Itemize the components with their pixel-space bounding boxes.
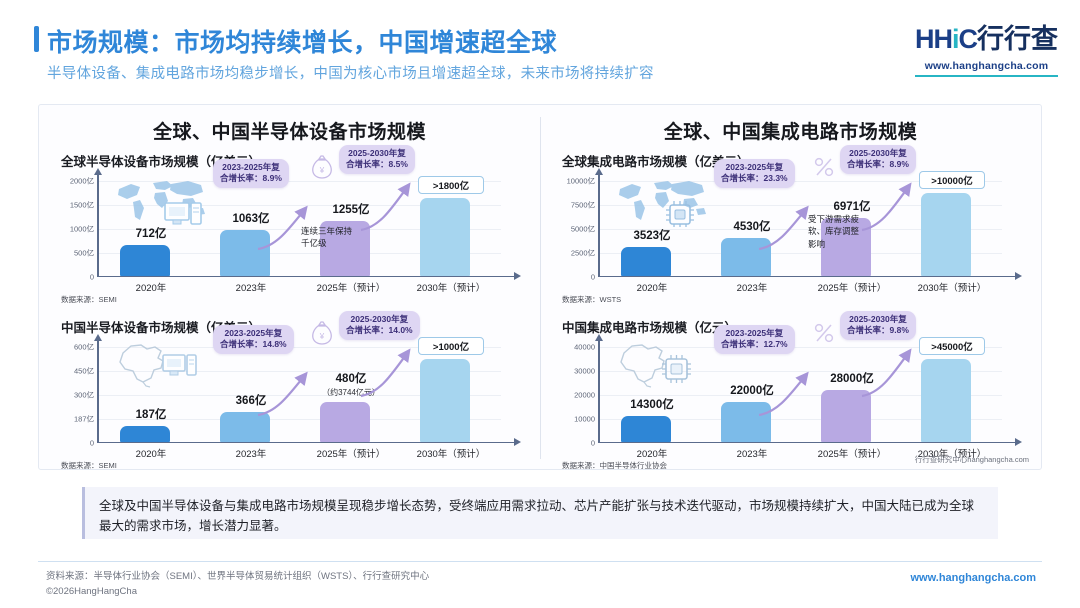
bar-slot: 1255亿 <box>301 172 401 276</box>
bar-2030年（预计）[interactable] <box>921 359 971 442</box>
x-axis-label: 2025年（预计） <box>301 446 401 460</box>
bar-2025年（预计）[interactable] <box>821 390 871 442</box>
bar-group: 3523亿4530亿6971亿>10000亿 <box>598 172 1016 276</box>
x-axis-label: 2025年（预计） <box>802 280 902 294</box>
bar-slot: 14300亿 <box>602 338 702 442</box>
y-axis-tick: 7500亿 <box>571 200 595 211</box>
bar-slot: 3523亿 <box>602 172 702 276</box>
y-axis-tick: 500亿 <box>74 248 94 259</box>
chart-title: 中国集成电路市场规模（亿元） <box>562 317 737 336</box>
y-axis-tick: 450亿 <box>74 366 94 377</box>
x-axis-label: 2020年 <box>101 446 201 460</box>
x-axis-label: 2020年 <box>602 446 702 460</box>
y-axis-tick: 187亿 <box>74 414 94 425</box>
plot-area: 600亿450亿300亿187亿0 187亿366亿480亿（约3744亿元）>… <box>61 339 521 443</box>
page-subtitle: 半导体设备、集成电路市场均稳步增长，中国为核心市场且增速超全球，未来市场将持续扩… <box>47 62 654 83</box>
bar-value-label: 187亿 <box>101 406 201 422</box>
x-axis-label: 2020年 <box>602 280 702 294</box>
y-axis-tick: 1000亿 <box>70 224 94 235</box>
plot-area: 2000亿1500亿1000亿500亿0 712亿1063亿1255亿>1800… <box>61 173 521 277</box>
callout-cagr-1: 2023-2025年复合增长率：14.8% <box>213 325 294 354</box>
bar-value-label: 3523亿 <box>602 227 702 243</box>
x-axis-labels: 2020年2023年2025年（预计）2030年（预计） <box>97 443 515 459</box>
chart-global-semi-equipment: 全球半导体设备市场规模（亿美元）2000亿1500亿1000亿500亿0 712… <box>61 151 521 303</box>
x-axis-label: 2020年 <box>101 280 201 294</box>
callout-cagr-2: 2025-2030年复合增长率：9.8% <box>840 311 916 340</box>
chart-note: 连续三年保持 千亿级 <box>301 225 352 250</box>
bar-2025年（预计）[interactable] <box>320 402 370 442</box>
bar-value-label: 14300亿 <box>602 396 702 412</box>
page-header: 市场规模：市场均持续增长，中国增速超全球 半导体设备、集成电路市场均稳步增长，中… <box>0 0 1080 96</box>
callout-cagr-1: 2023-2025年复合增长率：8.9% <box>213 159 289 188</box>
callout-cagr-2: 2025-2030年复合增长率：8.9% <box>840 145 916 174</box>
bar-2023年[interactable] <box>721 238 771 276</box>
callout-cagr-2: 2025-2030年复合增长率：14.0% <box>339 311 420 340</box>
logo-hh: HH <box>915 24 952 54</box>
bar-slot: 28000亿 <box>802 338 902 442</box>
bar-group: 712亿1063亿1255亿>1800亿 <box>97 172 515 276</box>
bar-2030年（预计）[interactable] <box>921 193 971 276</box>
chart-source: 数据来源：SEMI <box>61 294 117 305</box>
x-axis-label: 2023年 <box>702 446 802 460</box>
bar-value-label: 480亿（约3744亿元） <box>301 370 401 398</box>
bar-2023年[interactable] <box>220 412 270 442</box>
bar-2023年[interactable] <box>220 230 270 276</box>
chart-china-semi-equipment: 中国半导体设备市场规模（亿美元）600亿450亿300亿187亿0 187亿36… <box>61 317 521 469</box>
logo-c: C <box>959 24 978 54</box>
slide-root: 市场规模：市场均持续增长，中国增速超全球 半导体设备、集成电路市场均稳步增长，中… <box>0 0 1080 608</box>
bar-slot: 712亿 <box>101 172 201 276</box>
bar-value-label: 366亿 <box>201 392 301 408</box>
panel-integrated-circuit: 全球、中国集成电路市场规模 全球集成电路市场规模（亿美元）10000亿7500亿… <box>540 105 1041 471</box>
x-axis-labels: 2020年2023年2025年（预计）2030年（预计） <box>97 277 515 293</box>
panel-title-right: 全球、中国集成电路市场规模 <box>540 117 1041 144</box>
bar-value-label: 712亿 <box>101 225 201 241</box>
logo-url: www.hanghangcha.com <box>915 60 1058 72</box>
chart-note: 受下游需求疲 软、库存调整 影响 <box>808 213 859 250</box>
footer-source: 资料来源：半导体行业协会（SEMI）、世界半导体贸易统计组织（WSTS）、行行查… <box>46 570 429 599</box>
callout-cagr-1: 2023-2025年复合增长率：12.7% <box>714 325 795 354</box>
callout-cagr-2: 2025-2030年复合增长率：8.5% <box>339 145 415 174</box>
bar-2020年[interactable] <box>120 245 170 276</box>
bar-slot: >1000亿 <box>401 338 501 442</box>
x-axis-label: 2030年（预计） <box>401 446 501 460</box>
bar-value-label: 4530亿 <box>702 218 802 234</box>
callout-cagr-1: 2023-2025年复合增长率：23.3% <box>714 159 795 188</box>
footer-divider <box>38 561 1042 562</box>
research-credit: 行行查研究中心hanghangcha.com <box>915 454 1029 465</box>
bar-value-label: 6971亿 <box>802 198 902 214</box>
y-axis-tick: 30000 <box>574 367 595 376</box>
y-axis-tick: 20000 <box>574 391 595 400</box>
chart-source: 数据来源：WSTS <box>562 294 621 305</box>
y-axis-tick: 600亿 <box>74 342 94 353</box>
bar-2023年[interactable] <box>721 402 771 442</box>
bar-slot: >45000亿 <box>902 338 1002 442</box>
brand-logo: HHiC行行查 www.hanghangcha.com <box>915 26 1058 77</box>
bar-value-label: >45000亿 <box>919 337 985 355</box>
bar-slot: >10000亿 <box>902 172 1002 276</box>
bar-value-label: >1000亿 <box>418 337 484 355</box>
bar-2030年（预计）[interactable] <box>420 198 470 276</box>
x-axis-label: 2023年 <box>201 280 301 294</box>
x-axis-label: 2025年（预计） <box>802 446 902 460</box>
plot-area: 400003000020000100000 14300亿22000亿28000亿… <box>562 339 1022 443</box>
logo-wordmark: HHiC行行查 <box>915 26 1058 53</box>
y-axis-tick: 1500亿 <box>70 200 94 211</box>
chart-global-ic: 全球集成电路市场规模（亿美元）10000亿7500亿5000亿2500亿0 35… <box>562 151 1022 303</box>
bar-2030年（预计）[interactable] <box>420 359 470 442</box>
chart-source: 数据来源：中国半导体行业协会 <box>562 460 667 471</box>
bar-group: 14300亿22000亿28000亿>45000亿 <box>598 338 1016 442</box>
y-axis-tick: 10000亿 <box>567 176 595 187</box>
x-axis-label: 2030年（预计） <box>902 280 1002 294</box>
y-axis-tick: 0 <box>591 273 595 282</box>
y-axis-tick: 0 <box>591 439 595 448</box>
plot-area: 10000亿7500亿5000亿2500亿0 3523亿4530亿6971亿>1… <box>562 173 1022 277</box>
logo-chinese: 行行查 <box>977 24 1058 54</box>
title-accent-bar <box>34 26 39 52</box>
page-title: 市场规模：市场均持续增长，中国增速超全球 <box>47 23 557 59</box>
chart-china-ic: 中国集成电路市场规模（亿元）400003000020000100000 1430… <box>562 317 1022 469</box>
x-axis-label: 2023年 <box>702 280 802 294</box>
chart-source: 数据来源：SEMI <box>61 460 117 471</box>
y-axis-tick: 40000 <box>574 343 595 352</box>
bar-value-label: 1255亿 <box>301 201 401 217</box>
y-axis-tick: 5000亿 <box>571 224 595 235</box>
panel-title-left: 全球、中国半导体设备市场规模 <box>39 117 540 144</box>
y-axis-tick: 10000 <box>574 415 595 424</box>
bar-slot: >1800亿 <box>401 172 501 276</box>
x-axis-label: 2023年 <box>201 446 301 460</box>
bar-value-label: 1063亿 <box>201 210 301 226</box>
bar-sublabel: （约3744亿元） <box>301 387 401 398</box>
bar-2020年[interactable] <box>621 247 671 276</box>
y-axis-tick: 0 <box>90 273 94 282</box>
x-axis-label: 2025年（预计） <box>301 280 401 294</box>
bar-2020年[interactable] <box>120 426 170 442</box>
summary-box: 全球及中国半导体设备与集成电路市场规模呈现稳步增长态势，受终端应用需求拉动、芯片… <box>82 487 998 539</box>
bar-slot: 187亿 <box>101 338 201 442</box>
bar-group: 187亿366亿480亿（约3744亿元）>1000亿 <box>97 338 515 442</box>
y-axis-tick: 2500亿 <box>571 248 595 259</box>
charts-card: 全球、中国半导体设备市场规模 全球半导体设备市场规模（亿美元）2000亿1500… <box>38 104 1042 470</box>
bar-value-label: >1800亿 <box>418 176 484 194</box>
bar-value-label: 28000亿 <box>802 370 902 386</box>
x-axis-labels: 2020年2023年2025年（预计）2030年（预计） <box>598 277 1016 293</box>
bar-slot: 480亿（约3744亿元） <box>301 338 401 442</box>
panel-semiconductor-equipment: 全球、中国半导体设备市场规模 全球半导体设备市场规模（亿美元）2000亿1500… <box>39 105 540 471</box>
x-axis-label: 2030年（预计） <box>401 280 501 294</box>
bar-value-label: >10000亿 <box>919 171 985 189</box>
y-axis-tick: 0 <box>90 439 94 448</box>
y-axis-tick: 300亿 <box>74 390 94 401</box>
footer-url[interactable]: www.hanghangcha.com <box>911 572 1037 584</box>
logo-underline <box>915 75 1058 77</box>
y-axis-tick: 2000亿 <box>70 176 94 187</box>
bar-2020年[interactable] <box>621 416 671 442</box>
bar-value-label: 22000亿 <box>702 382 802 398</box>
